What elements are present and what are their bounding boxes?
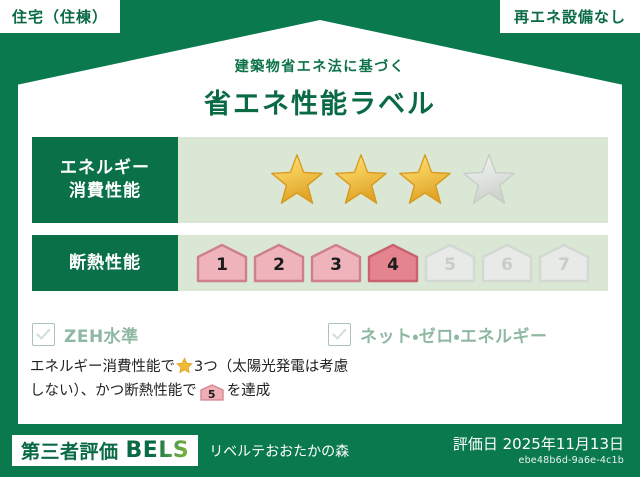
insulation-grade-5: 5 <box>424 243 476 283</box>
label-footer: 第三者評価 BELS リベルテおおたかの森 評価日 2025年11月13日 eb… <box>0 424 640 477</box>
page-title-block: 建築物省エネ法に基づく 省エネ性能ラベル <box>0 56 640 121</box>
criteria-list: ZEH水準ネット・ゼロ・エネルギー <box>32 322 608 347</box>
star-filled-icon <box>269 152 325 208</box>
insulation-grade-value: 2 <box>273 257 285 283</box>
evaluation-uid: ebe48b6d-9a6e-4c1b <box>453 455 624 466</box>
row-energy-consumption: エネルギー 消費性能 <box>32 137 608 223</box>
insulation-grade-7: 7 <box>538 243 590 283</box>
energy-performance-label: 住宅（住棟） 再エネ設備なし 建築物省エネ法に基づく 省エネ性能ラベル エネルギ… <box>0 0 640 477</box>
star-empty-icon <box>461 152 517 208</box>
inline-star-icon <box>176 357 193 374</box>
row-insulation-performance: 断熱性能 1234567 <box>32 235 608 291</box>
insulation-grade-scale: 1234567 <box>196 243 590 283</box>
insulation-grade-value: 6 <box>501 257 513 283</box>
insulation-grade-4: 4 <box>367 243 419 283</box>
insulation-grade-value: 1 <box>216 257 228 283</box>
evaluation-date-value: 2025年11月13日 <box>503 435 624 453</box>
bels-logo-text: BELS <box>126 438 190 463</box>
inline-grade-badge: 5 <box>200 384 224 401</box>
third-party-text: 第三者評価 <box>21 437 119 464</box>
insulation-grade-value: 4 <box>387 257 399 283</box>
page-subtitle: 建築物省エネ法に基づく <box>0 56 640 76</box>
row-energy-label: エネルギー 消費性能 <box>32 137 178 223</box>
description-part1: エネルギー消費性能で <box>30 359 175 375</box>
insulation-grade-3: 3 <box>310 243 362 283</box>
insulation-grade-1: 1 <box>196 243 248 283</box>
achievement-description: エネルギー消費性能で3つ（太陽光発電は考慮しない）、かつ断熱性能で5を達成 <box>30 356 360 404</box>
insulation-grade-value: 7 <box>558 257 570 283</box>
badge-renewable-equipment: 再エネ設備なし <box>500 0 640 33</box>
criterion-net-zero-energy-label: ネット・ゼロ・エネルギー <box>360 322 548 347</box>
row-energy-body <box>178 137 608 223</box>
insulation-grade-value: 5 <box>444 257 456 283</box>
criterion-zeh: ZEH水準 <box>32 322 328 347</box>
badge-building-type: 住宅（住棟） <box>0 0 120 33</box>
criterion-net-zero-energy: ネット・ゼロ・エネルギー <box>328 322 548 347</box>
row-insulation-body: 1234567 <box>178 235 608 291</box>
row-insulation-label-text: 断熱性能 <box>69 252 141 275</box>
badge-building-type-text: 住宅（住棟） <box>12 6 108 27</box>
evaluation-date-label: 評価日 <box>453 435 498 453</box>
insulation-grade-2: 2 <box>253 243 305 283</box>
row-energy-label-line1: エネルギー <box>60 157 150 180</box>
building-name: リベルテおおたかの森 <box>209 441 349 461</box>
evaluation-date: 評価日 2025年11月13日 <box>453 435 624 453</box>
star-rating <box>269 152 517 208</box>
bels-badge: 第三者評価 BELS <box>12 435 198 466</box>
inline-grade-badge-value: 5 <box>200 384 224 406</box>
page-title: 省エネ性能ラベル <box>0 82 640 121</box>
star-filled-icon <box>333 152 389 208</box>
badge-renewable-equipment-text: 再エネ設備なし <box>514 6 626 27</box>
insulation-grade-6: 6 <box>481 243 533 283</box>
insulation-grade-value: 3 <box>330 257 342 283</box>
description-part3: を達成 <box>227 383 271 399</box>
row-energy-label-line2: 消費性能 <box>69 180 141 203</box>
criterion-zeh-label: ZEH水準 <box>64 322 139 347</box>
checkbox-net-zero-energy[interactable] <box>328 323 351 346</box>
evaluation-info: 評価日 2025年11月13日 ebe48b6d-9a6e-4c1b <box>453 435 624 466</box>
checkbox-zeh[interactable] <box>32 323 55 346</box>
star-filled-icon <box>397 152 453 208</box>
performance-rows: エネルギー 消費性能 断熱性能 1234567 <box>32 137 608 303</box>
row-insulation-label: 断熱性能 <box>32 235 178 291</box>
